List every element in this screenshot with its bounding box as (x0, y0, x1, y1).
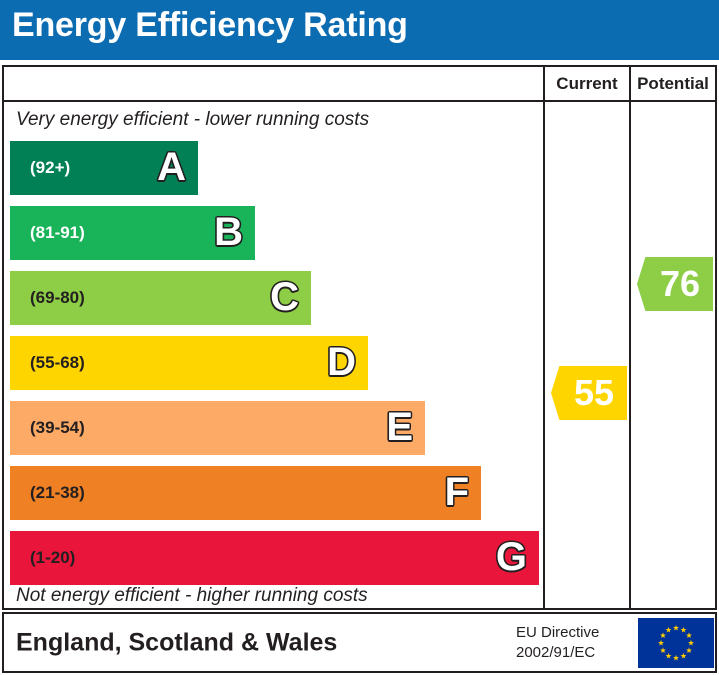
band-bar-c: (69-80) C (10, 271, 311, 325)
band-letter-b: B (214, 212, 243, 252)
band-range-d: (55-68) (30, 353, 85, 373)
column-header-current: Current (543, 67, 629, 100)
band-range-a: (92+) (30, 158, 70, 178)
table-header-row: Current Potential (4, 67, 715, 102)
column-header-potential: Potential (629, 67, 715, 100)
band-letter-e: E (386, 407, 413, 447)
band-range-f: (21-38) (30, 483, 85, 503)
current-rating-value: 55 (564, 375, 614, 411)
band-range-e: (39-54) (30, 418, 85, 438)
chart-title-bar: Energy Efficiency Rating (0, 0, 719, 60)
band-bar-g: (1-20) G (10, 531, 539, 585)
band-letter-g: G (496, 537, 527, 577)
footer-directive: EU Directive 2002/91/EC (516, 622, 599, 663)
column-divider-current (543, 102, 545, 608)
potential-rating-marker: 76 (637, 257, 713, 311)
caption-efficient: Very energy efficient - lower running co… (16, 109, 369, 131)
band-range-b: (81-91) (30, 223, 85, 243)
current-rating-marker: 55 (551, 366, 627, 420)
band-range-g: (1-20) (30, 548, 75, 568)
band-range-c: (69-80) (30, 288, 85, 308)
caption-inefficient: Not energy efficient - higher running co… (16, 585, 368, 607)
footer-directive-line1: EU Directive (516, 622, 599, 642)
column-divider-potential (629, 102, 631, 608)
chart-grid-frame: Current Potential Very energy efficient … (2, 65, 717, 610)
band-bar-d: (55-68) D (10, 336, 368, 390)
footer-region-label: England, Scotland & Wales (16, 628, 337, 657)
band-letter-f: F (445, 472, 469, 512)
energy-efficiency-rating-chart: Energy Efficiency Rating Current Potenti… (0, 0, 719, 675)
band-letter-a: A (157, 147, 186, 187)
footer-directive-line2: 2002/91/EC (516, 643, 599, 663)
potential-rating-value: 76 (650, 266, 700, 302)
band-bar-b: (81-91) B (10, 206, 255, 260)
band-bar-a: (92+) A (10, 141, 198, 195)
band-letter-d: D (327, 342, 356, 382)
band-bar-f: (21-38) F (10, 466, 481, 520)
chart-footer: England, Scotland & Wales EU Directive 2… (2, 612, 717, 673)
eu-flag-icon (638, 618, 714, 668)
band-bar-e: (39-54) E (10, 401, 425, 455)
band-letter-c: C (270, 277, 299, 317)
page-title: Energy Efficiency Rating (12, 6, 408, 45)
